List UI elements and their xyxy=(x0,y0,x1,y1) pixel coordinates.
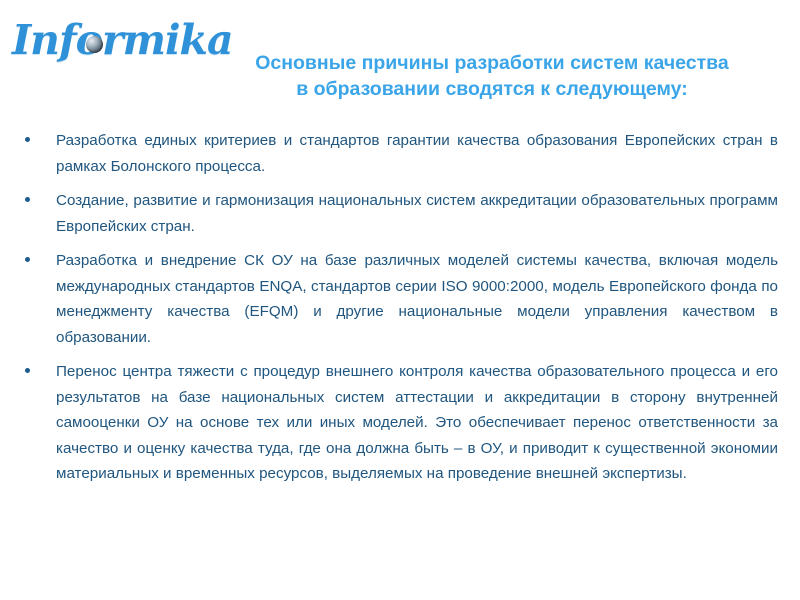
bullet-dot-icon xyxy=(25,257,30,262)
list-item-text: Создание, развитие и гармонизация национ… xyxy=(56,188,778,239)
globe-icon xyxy=(86,36,103,53)
list-item-text: Перенос центра тяжести с процедур внешне… xyxy=(56,359,778,487)
logo-wordmark: Informika xyxy=(12,14,202,66)
bullet-dot-icon xyxy=(25,197,30,202)
page-title-line-1: Основные причины разработки систем качес… xyxy=(196,50,788,76)
list-item: Разработка единых критериев и стандартов… xyxy=(22,128,778,179)
list-item-text: Разработка единых критериев и стандартов… xyxy=(56,128,778,179)
list-item: Создание, развитие и гармонизация национ… xyxy=(22,188,778,239)
logo: Informika xyxy=(12,14,202,66)
page-title: Основные причины разработки систем качес… xyxy=(196,50,788,102)
list-item: Разработка и внедрение СК ОУ на базе раз… xyxy=(22,248,778,350)
bullet-dot-icon xyxy=(25,137,30,142)
page-title-line-2: в образовании сводятся к следующему: xyxy=(196,76,788,102)
bullet-dot-icon xyxy=(25,368,30,373)
list-item: Перенос центра тяжести с процедур внешне… xyxy=(22,359,778,487)
bullet-list: Разработка единых критериев и стандартов… xyxy=(22,128,778,487)
list-item-text: Разработка и внедрение СК ОУ на базе раз… xyxy=(56,248,778,350)
